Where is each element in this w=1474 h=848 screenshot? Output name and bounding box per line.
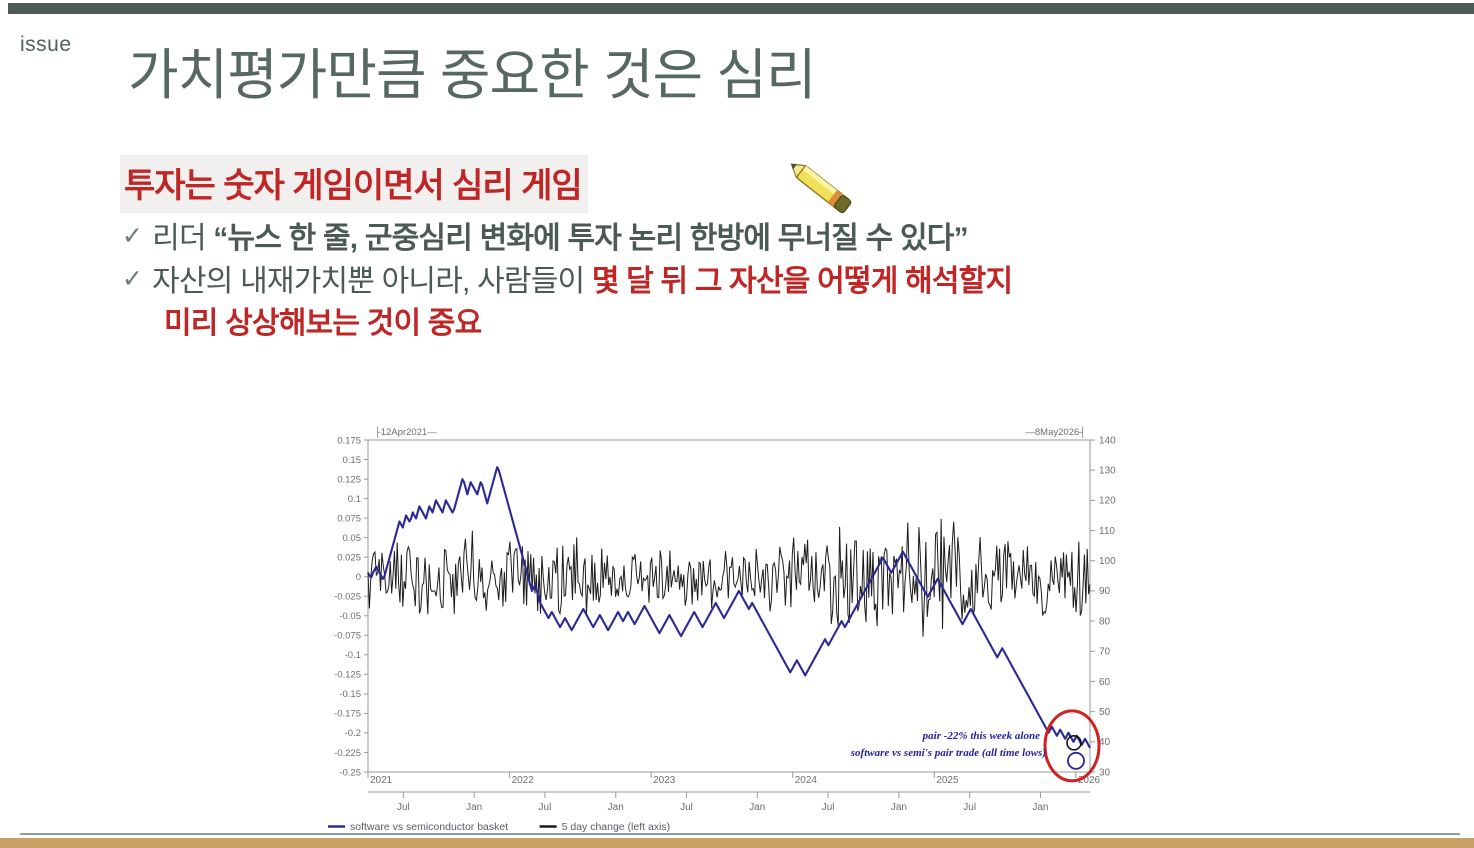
section-headline: 투자는 숫자 게임이면서 심리 게임 (120, 155, 588, 213)
slide-kicker: issue (20, 33, 72, 57)
svg-text:80: 80 (1099, 616, 1111, 627)
svg-text:40: 40 (1099, 737, 1111, 748)
svg-text:2023: 2023 (653, 775, 676, 786)
svg-text:120: 120 (1099, 496, 1116, 507)
svg-text:0.15: 0.15 (343, 455, 362, 466)
top-accent-bar (8, 3, 1474, 14)
svg-text:-0.15: -0.15 (339, 689, 361, 700)
svg-text:Jul: Jul (822, 802, 835, 813)
svg-text:100: 100 (1099, 556, 1116, 567)
svg-text:2025: 2025 (936, 775, 959, 786)
svg-text:2021: 2021 (370, 775, 393, 786)
svg-text:50: 50 (1099, 707, 1111, 718)
check-icon: ✓ (122, 261, 142, 299)
check-icon: ✓ (122, 218, 142, 256)
svg-text:0.075: 0.075 (337, 513, 361, 524)
svg-text:-0.025: -0.025 (334, 592, 361, 603)
svg-text:-0.225: -0.225 (334, 748, 361, 759)
svg-text:Jan: Jan (891, 802, 907, 813)
bullet-list: ✓ 리더 “뉴스 한 줄, 군중심리 변화에 투자 논리 한방에 무너질 수 있… (122, 218, 1382, 346)
svg-text:Jan: Jan (1032, 802, 1048, 813)
svg-text:-0.25: -0.25 (339, 767, 361, 778)
svg-text:-0.2: -0.2 (345, 728, 361, 739)
svg-text:0.05: 0.05 (343, 533, 362, 544)
svg-text:Jul: Jul (539, 802, 552, 813)
footer-rule (20, 833, 1460, 835)
svg-text:0.1: 0.1 (348, 494, 361, 505)
svg-text:2026: 2026 (1078, 775, 1101, 786)
svg-text:Jan: Jan (749, 802, 765, 813)
svg-text:-0.1: -0.1 (345, 650, 361, 661)
svg-text:—8May2026┤: —8May2026┤ (1025, 426, 1086, 438)
svg-text:-0.175: -0.175 (334, 709, 361, 720)
svg-text:70: 70 (1099, 647, 1111, 658)
svg-text:5 day change (left axis): 5 day change (left axis) (562, 821, 671, 833)
list-item: ✓ 자산의 내재가치뿐 아니라, 사람들이 몇 달 뒤 그 자산을 어떻게 해석… (122, 261, 1382, 304)
bullet-text: 자산의 내재가치뿐 아니라, 사람들이 몇 달 뒤 그 자산을 어떻게 해석할지 (152, 261, 1012, 304)
svg-text:90: 90 (1099, 586, 1111, 597)
svg-text:0.125: 0.125 (337, 474, 361, 485)
svg-text:Jan: Jan (466, 802, 482, 813)
svg-text:130: 130 (1099, 465, 1116, 476)
svg-text:-0.05: -0.05 (339, 611, 361, 622)
svg-text:Jul: Jul (680, 802, 693, 813)
svg-text:Jan: Jan (608, 802, 624, 813)
page-title: 가치평가만큼 중요한 것은 심리 (128, 30, 816, 110)
svg-text:2022: 2022 (512, 775, 535, 786)
svg-text:2024: 2024 (795, 775, 818, 786)
footer-accent-bar (0, 838, 1474, 848)
svg-text:140: 140 (1099, 435, 1116, 446)
pair-trade-chart: 0.1750.150.1250.10.0750.050.0250-0.025-0… (300, 412, 1160, 837)
svg-text:110: 110 (1099, 526, 1115, 537)
svg-text:Jul: Jul (397, 802, 410, 813)
svg-text:-0.075: -0.075 (334, 631, 361, 642)
svg-text:software vs semiconductor bask: software vs semiconductor basket (350, 821, 508, 833)
list-item: ✓ 리더 “뉴스 한 줄, 군중심리 변화에 투자 논리 한방에 무너질 수 있… (122, 218, 1382, 261)
chart-figure: 0.1750.150.1250.10.0750.050.0250-0.025-0… (300, 412, 1160, 837)
bullet-continuation: 미리 상상해보는 것이 중요 (122, 303, 1382, 346)
annotation-all-time-lows: software vs semi's pair trade (all time … (850, 747, 1046, 759)
svg-text:60: 60 (1099, 677, 1111, 688)
bullet-text: 리더 “뉴스 한 줄, 군중심리 변화에 투자 논리 한방에 무너질 수 있다” (152, 218, 968, 261)
svg-text:-0.125: -0.125 (334, 670, 361, 681)
svg-text:├12Apr2021—: ├12Apr2021— (374, 426, 437, 438)
annotation-pair-change: pair -22% this week alone (922, 730, 1040, 742)
svg-text:Jul: Jul (963, 802, 976, 813)
svg-text:0.175: 0.175 (337, 435, 361, 446)
svg-text:0: 0 (356, 572, 361, 583)
svg-text:30: 30 (1099, 767, 1111, 778)
svg-text:0.025: 0.025 (337, 552, 361, 563)
